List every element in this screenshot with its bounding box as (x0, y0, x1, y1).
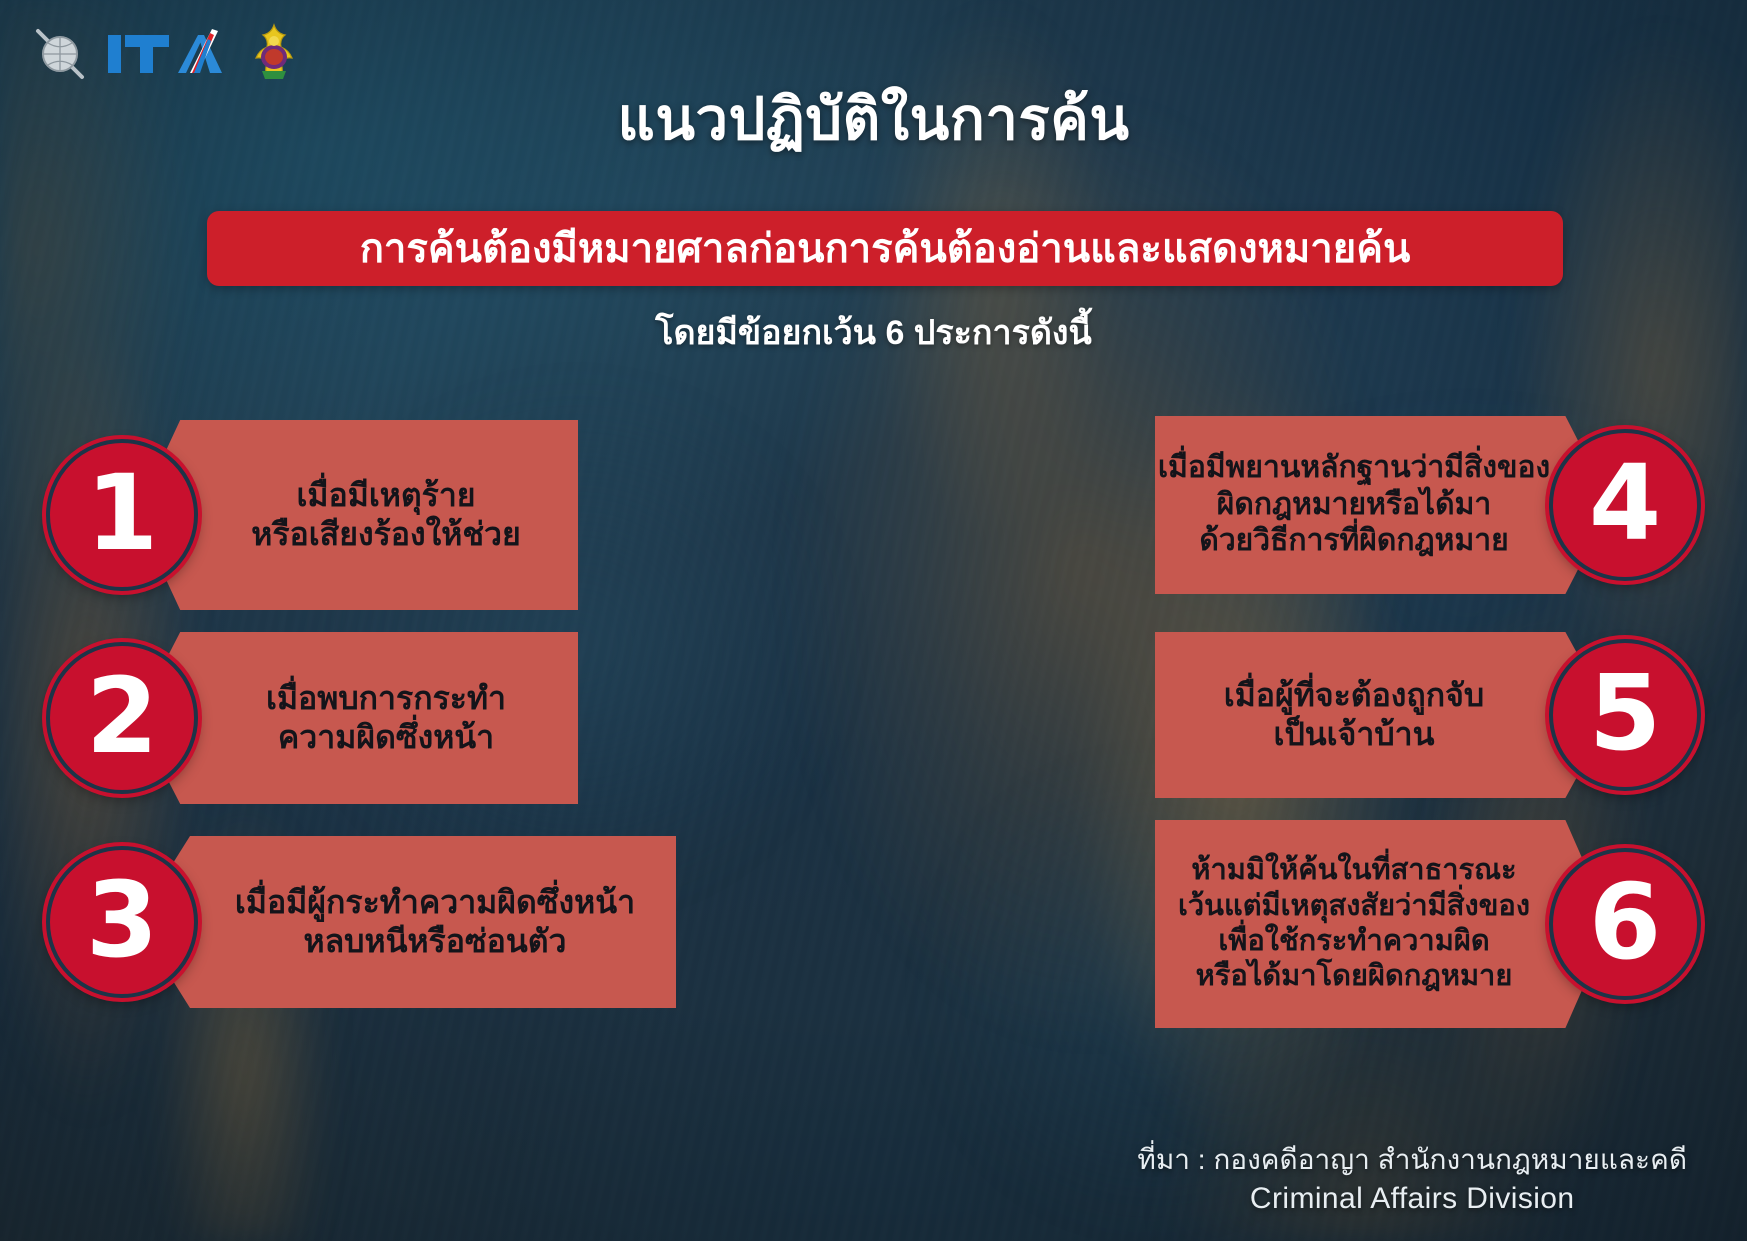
number-badge-label-6: 6 (1589, 870, 1661, 974)
callout-arrow-1: เมื่อมีเหตุร้าย หรือเสียงร้องให้ช่วย (136, 420, 578, 610)
number-badge-label-1: 1 (86, 461, 158, 565)
number-badge-2: 2 (46, 642, 198, 794)
callout-line: เมื่อพบการกระทำ (266, 679, 506, 718)
callout-line: หลบหนีหรือซ่อนตัว (303, 922, 566, 961)
list-item-2: 2 เมื่อพบการกระทำ ความผิดซึ่งหน้า (46, 632, 578, 804)
number-badge-label-4: 4 (1589, 451, 1661, 555)
callout-line: เพื่อใช้กระทำความผิด (1218, 924, 1489, 959)
callout-line: เว้นแต่มีเหตุสงสัยว่ามีสิ่งของ (1178, 889, 1530, 924)
source-text-en: Criminal Affairs Division (1137, 1179, 1687, 1220)
callout-line: เมื่อผู้ที่จะต้องถูกจับ (1224, 676, 1484, 715)
callout-arrow-3: เมื่อมีผู้กระทำความผิดซึ่งหน้า หลบหนีหรื… (136, 836, 676, 1008)
number-badge-label-5: 5 (1589, 661, 1661, 765)
callout-line: เมื่อมีเหตุร้าย (296, 476, 475, 515)
list-item-5: 5 เมื่อผู้ที่จะต้องถูกจับ เป็นเจ้าบ้าน (1155, 632, 1701, 798)
callout-line: หรือเสียงร้องให้ช่วย (251, 515, 521, 554)
number-badge-label-2: 2 (86, 664, 158, 768)
callout-line: เมื่อมีผู้กระทำความผิดซึ่งหน้า (235, 883, 635, 922)
callout-arrow-6: ห้ามมิให้ค้นในที่สาธารณะ เว้นแต่มีเหตุสง… (1155, 820, 1611, 1028)
source-footer: ที่มา : กองคดีอาญา สำนักงานกฎหมายและคดี … (1137, 1141, 1687, 1219)
list-item-6: 6 ห้ามมิให้ค้นในที่สาธารณะ เว้นแต่มีเหตุ… (1155, 820, 1701, 1028)
number-badge-5: 5 (1549, 639, 1701, 791)
infographic-poster: แนวปฏิบัติในการค้น การค้นต้องมีหมายศาลก่… (0, 0, 1747, 1241)
callout-arrow-2: เมื่อพบการกระทำ ความผิดซึ่งหน้า (136, 632, 578, 804)
callout-line: เมื่อมีพยานหลักฐานว่ามีสิ่งของ (1158, 450, 1550, 487)
callout-line: ผิดกฎหมายหรือได้มา (1217, 487, 1491, 524)
list-item-4: 4 เมื่อมีพยานหลักฐานว่ามีสิ่งของ ผิดกฎหม… (1155, 416, 1701, 594)
page-title: แนวปฏิบัติในการค้น (0, 72, 1747, 165)
number-badge-1: 1 (46, 439, 198, 591)
main-banner-text: การค้นต้องมีหมายศาลก่อนการค้นต้องอ่านและ… (360, 229, 1411, 269)
number-badge-4: 4 (1549, 429, 1701, 581)
callout-arrow-5: เมื่อผู้ที่จะต้องถูกจับ เป็นเจ้าบ้าน (1155, 632, 1611, 798)
callout-arrow-4: เมื่อมีพยานหลักฐานว่ามีสิ่งของ ผิดกฎหมาย… (1155, 416, 1611, 594)
callout-line: ด้วยวิธีการที่ผิดกฎหมาย (1199, 523, 1508, 560)
callout-line: ความผิดซึ่งหน้า (278, 718, 494, 757)
number-badge-6: 6 (1549, 848, 1701, 1000)
callout-line: หรือได้มาโดยผิดกฎหมาย (1196, 959, 1513, 994)
subtitle: โดยมีข้อยกเว้น 6 ประการดังนี้ (0, 305, 1747, 359)
number-badge-label-3: 3 (86, 868, 158, 972)
list-item-1: 1 เมื่อมีเหตุร้าย หรือเสียงร้องให้ช่วย (46, 420, 578, 610)
callout-line: เป็นเจ้าบ้าน (1274, 715, 1435, 754)
exception-list: 1 เมื่อมีเหตุร้าย หรือเสียงร้องให้ช่วย 2… (0, 396, 1747, 1036)
number-badge-3: 3 (46, 846, 198, 998)
main-banner: การค้นต้องมีหมายศาลก่อนการค้นต้องอ่านและ… (207, 211, 1563, 286)
callout-line: ห้ามมิให้ค้นในที่สาธารณะ (1191, 853, 1516, 888)
list-item-3: 3 เมื่อมีผู้กระทำความผิดซึ่งหน้า หลบหนีห… (46, 836, 676, 1008)
source-text-th: ที่มา : กองคดีอาญา สำนักงานกฎหมายและคดี (1137, 1141, 1687, 1179)
